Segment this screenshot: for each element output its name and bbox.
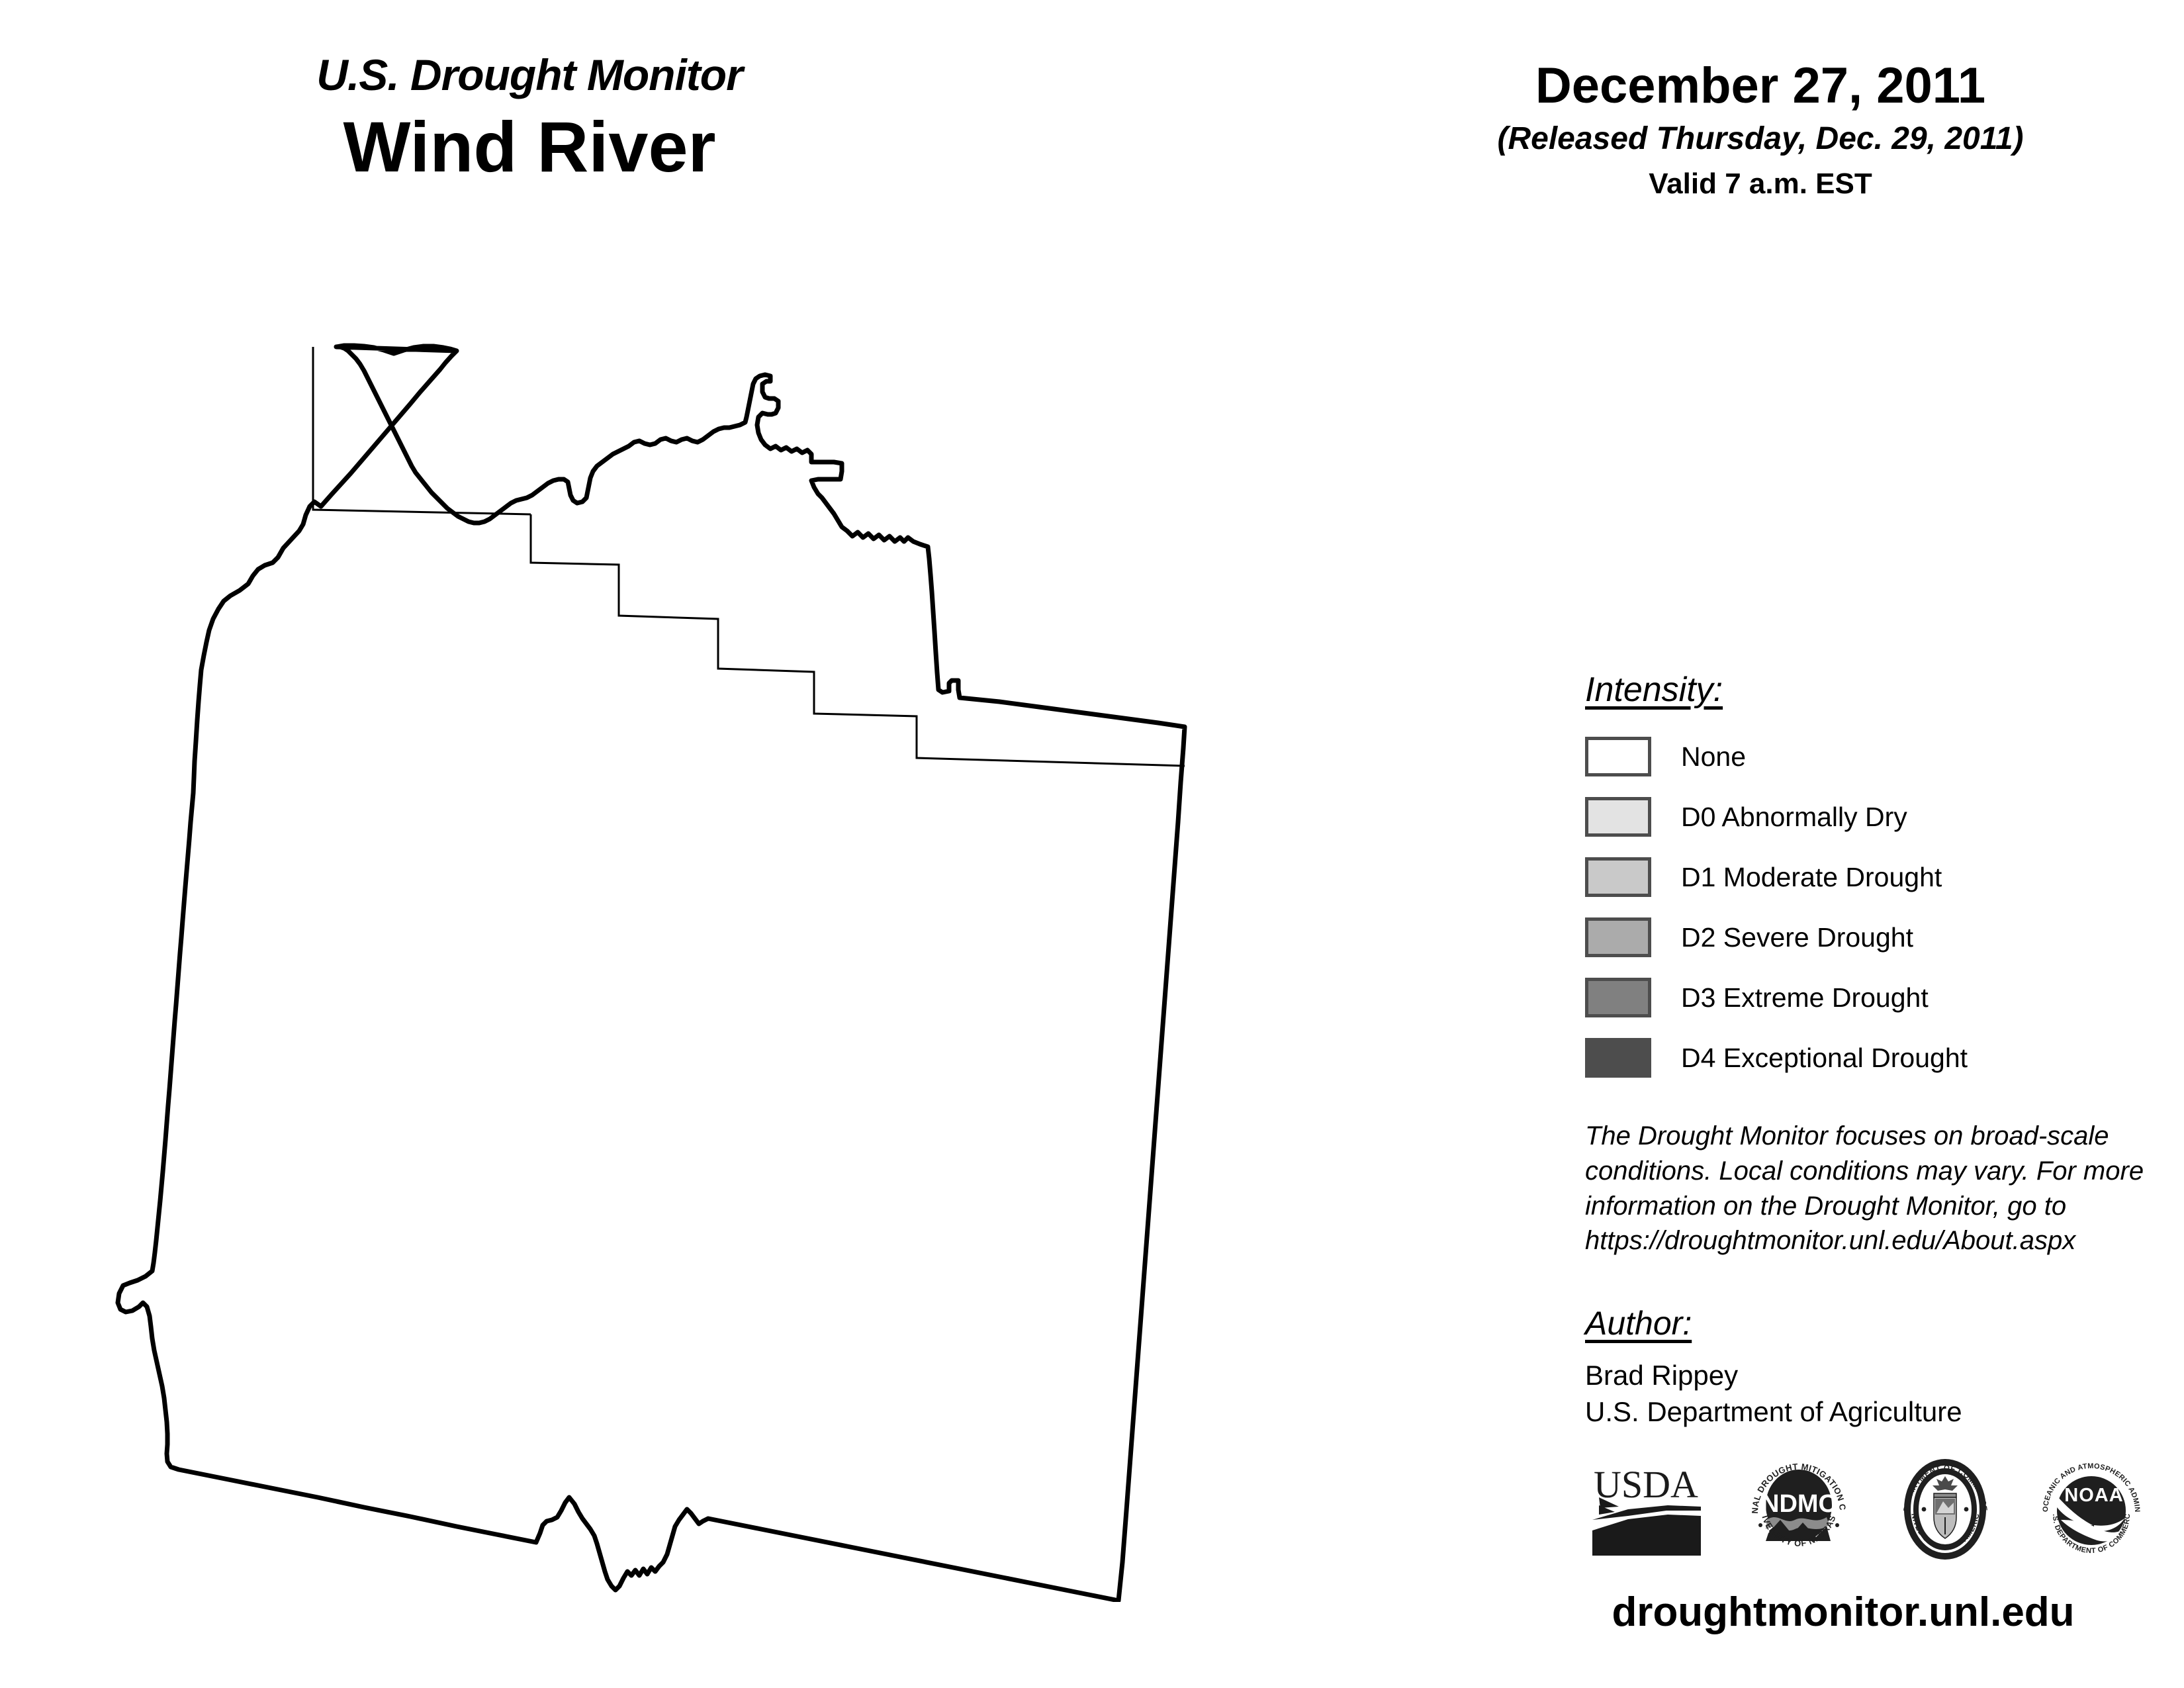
legend-label-d4: D4 Exceptional Drought bbox=[1681, 1045, 1968, 1072]
author-heading: Author: bbox=[1585, 1304, 1692, 1342]
map-svg[interactable] bbox=[60, 285, 1516, 1602]
logo-row: USDA NATIONAL DROUGHT MITIGATION CENTER … bbox=[1588, 1453, 2144, 1569]
legend-label-d2: D2 Severe Drought bbox=[1681, 924, 1913, 951]
page-title: Wind River bbox=[0, 106, 1059, 188]
legend-label-none: None bbox=[1681, 743, 1746, 771]
region-outline bbox=[118, 346, 1185, 1601]
disclaimer-about-link[interactable]: https://droughtmonitor.unl.edu/About.asp… bbox=[1585, 1223, 2184, 1258]
legend: Intensity: None D0 Abnormally Dry D1 Mod… bbox=[1585, 670, 2167, 1094]
valid-date: December 27, 2011 bbox=[1423, 60, 2098, 113]
svg-text:USDA: USDA bbox=[1594, 1463, 1698, 1506]
doc-logo[interactable]: DEPARTMENT OF COMMERCE UNITED STATES OF … bbox=[1894, 1456, 1997, 1566]
legend-swatch-d1 bbox=[1585, 857, 1651, 897]
legend-swatch-d3 bbox=[1585, 978, 1651, 1017]
legend-swatch-d2 bbox=[1585, 917, 1651, 957]
doc-logo-svg: DEPARTMENT OF COMMERCE UNITED STATES OF … bbox=[1894, 1456, 1997, 1562]
legend-swatch-d4 bbox=[1585, 1038, 1651, 1078]
author-block: Author: Brad Rippey U.S. Department of A… bbox=[1585, 1304, 2181, 1430]
legend-label-d0: D0 Abnormally Dry bbox=[1681, 804, 1907, 831]
release-date: (Released Thursday, Dec. 29, 2011) bbox=[1423, 120, 2098, 157]
valid-time: Valid 7 a.m. EST bbox=[1423, 167, 2098, 201]
disclaimer-line-3: information on the Drought Monitor, go t… bbox=[1585, 1189, 2184, 1224]
legend-item-none[interactable]: None bbox=[1585, 732, 2167, 781]
legend-heading: Intensity: bbox=[1585, 670, 1723, 710]
footer-url[interactable]: droughtmonitor.unl.edu bbox=[1555, 1589, 2131, 1636]
legend-item-d0[interactable]: D0 Abnormally Dry bbox=[1585, 792, 2167, 841]
svg-text:NDMC: NDMC bbox=[1761, 1490, 1837, 1518]
product-title: U.S. Drought Monitor bbox=[0, 53, 1059, 97]
noaa-logo-svg: NATIONAL OCEANIC AND ATMOSPHERIC ADMINIS… bbox=[2038, 1456, 2144, 1562]
legend-item-d4[interactable]: D4 Exceptional Drought bbox=[1585, 1033, 2167, 1082]
header-left-block: U.S. Drought Monitor Wind River bbox=[0, 53, 1059, 188]
author-name: Brad Rippey bbox=[1585, 1357, 2181, 1393]
legend-swatch-none bbox=[1585, 737, 1651, 776]
legend-item-d3[interactable]: D3 Extreme Drought bbox=[1585, 973, 2167, 1022]
legend-swatch-d0 bbox=[1585, 797, 1651, 837]
legend-item-d1[interactable]: D1 Moderate Drought bbox=[1585, 853, 2167, 902]
legend-label-d1: D1 Moderate Drought bbox=[1681, 864, 1942, 891]
svg-text:NOAA: NOAA bbox=[2064, 1485, 2123, 1506]
disclaimer-line-1: The Drought Monitor focuses on broad-sca… bbox=[1585, 1119, 2184, 1154]
header-right-block: December 27, 2011 (Released Thursday, De… bbox=[1423, 60, 2098, 201]
noaa-logo[interactable]: NATIONAL OCEANIC AND ATMOSPHERIC ADMINIS… bbox=[2038, 1456, 2144, 1566]
usda-logo-svg: USDA bbox=[1588, 1456, 1704, 1562]
author-affiliation: U.S. Department of Agriculture bbox=[1585, 1393, 2181, 1430]
disclaimer-text: The Drought Monitor focuses on broad-sca… bbox=[1585, 1119, 2184, 1258]
legend-item-d2[interactable]: D2 Severe Drought bbox=[1585, 913, 2167, 962]
usda-logo[interactable]: USDA bbox=[1588, 1456, 1704, 1566]
legend-label-d3: D3 Extreme Drought bbox=[1681, 984, 1929, 1011]
ndmc-logo-svg: NATIONAL DROUGHT MITIGATION CENTER UNIVE… bbox=[1746, 1456, 1852, 1562]
ndmc-logo[interactable]: NATIONAL DROUGHT MITIGATION CENTER UNIVE… bbox=[1746, 1456, 1852, 1566]
disclaimer-line-2: conditions. Local conditions may vary. F… bbox=[1585, 1154, 2184, 1189]
drought-map[interactable] bbox=[60, 285, 1516, 1602]
